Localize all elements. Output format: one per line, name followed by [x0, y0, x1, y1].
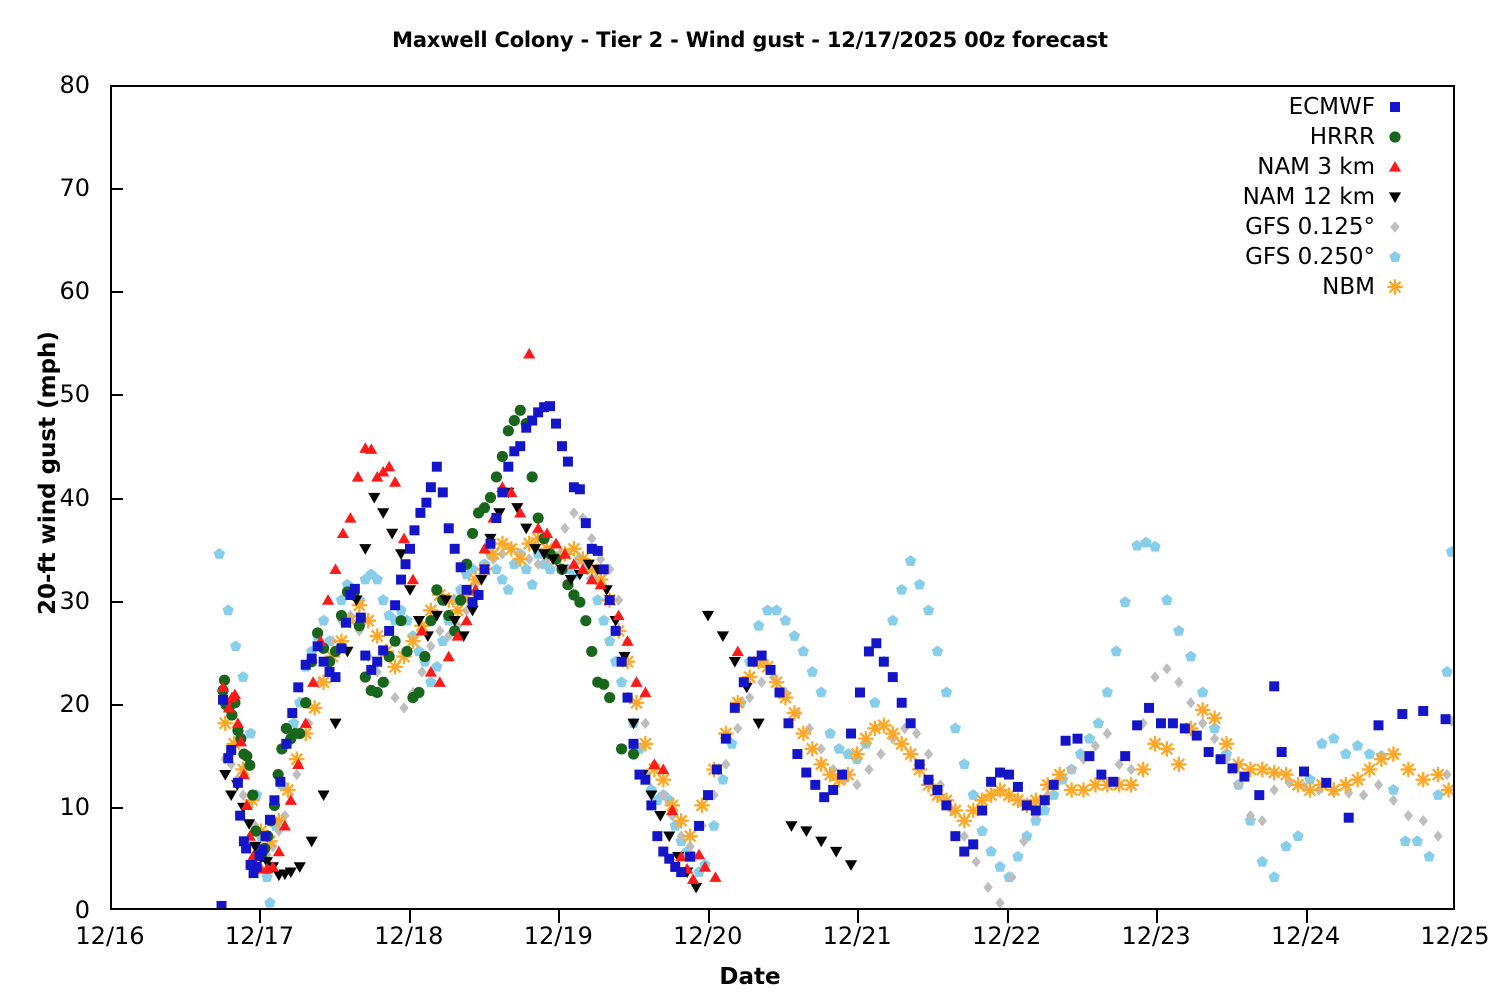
data-point: [407, 574, 419, 585]
x-tick-label: 12/20: [638, 922, 778, 950]
data-point: [480, 564, 490, 574]
data-point: [638, 736, 653, 751]
data-point: [732, 645, 744, 656]
data-point: [520, 524, 532, 535]
data-point: [491, 471, 502, 482]
data-point: [1004, 770, 1014, 780]
data-point: [1266, 765, 1281, 780]
data-point: [491, 563, 502, 574]
data-point: [646, 800, 656, 810]
x-tick-label: 12/22: [937, 922, 1077, 950]
data-point: [444, 523, 454, 533]
data-point: [1096, 770, 1106, 780]
data-point: [932, 645, 943, 656]
data-point: [1219, 736, 1234, 751]
data-point: [419, 651, 430, 662]
x-tick-mark: [708, 910, 710, 923]
x-tick-label: 12/18: [339, 922, 479, 950]
data-point: [815, 837, 827, 848]
series-nam-3-km: [217, 348, 744, 884]
data-point: [1258, 815, 1267, 826]
data-point: [599, 564, 609, 574]
data-point: [225, 790, 237, 801]
data-point: [503, 462, 513, 472]
data-point: [652, 831, 662, 841]
data-point: [1185, 651, 1196, 662]
data-point: [497, 487, 507, 497]
data-point: [598, 615, 609, 626]
data-point: [613, 610, 625, 621]
data-point: [745, 692, 754, 703]
data-point: [702, 611, 714, 622]
data-point: [356, 613, 366, 623]
data-point: [1255, 762, 1270, 777]
data-point: [1012, 851, 1023, 862]
data-point: [450, 544, 460, 554]
data-point: [845, 860, 857, 871]
data-point: [431, 584, 442, 595]
data-point: [307, 654, 317, 664]
data-point: [1419, 815, 1428, 826]
legend-item-nam-3-km[interactable]: NAM 3 km: [1150, 152, 1415, 182]
data-point: [616, 743, 627, 754]
data-point: [1197, 687, 1208, 698]
legend-item-nbm[interactable]: NBM: [1150, 272, 1415, 302]
data-point: [775, 688, 785, 698]
data-point: [396, 575, 406, 585]
data-point: [1350, 772, 1365, 787]
data-point: [398, 533, 410, 544]
data-point: [977, 806, 987, 816]
data-point: [1418, 706, 1428, 716]
data-point: [235, 811, 245, 821]
data-point: [390, 636, 401, 647]
x-tick-label: 12/16: [40, 922, 180, 950]
data-point: [421, 498, 431, 508]
legend-label: ECMWF: [1289, 94, 1375, 120]
data-point: [753, 719, 765, 730]
data-point: [941, 800, 951, 810]
data-point: [897, 698, 907, 708]
data-point: [771, 604, 782, 615]
data-point: [849, 746, 864, 761]
data-point: [378, 677, 389, 688]
data-point: [586, 646, 597, 657]
data-point: [378, 645, 388, 655]
data-point: [377, 508, 389, 519]
data-point: [415, 508, 425, 518]
data-point: [924, 748, 933, 759]
data-point: [317, 790, 329, 801]
data-point: [1257, 856, 1268, 867]
data-point: [485, 539, 495, 549]
data-point: [1359, 789, 1368, 800]
data-point: [1210, 733, 1219, 744]
legend-label: NBM: [1322, 274, 1375, 300]
data-point: [275, 777, 285, 787]
data-point: [876, 748, 885, 759]
data-point: [329, 563, 341, 574]
data-point: [801, 768, 811, 778]
data-point: [1084, 751, 1094, 761]
data-point: [1084, 733, 1095, 744]
data-point: [359, 544, 371, 555]
data-point: [1171, 757, 1186, 772]
data-point: [1013, 782, 1023, 792]
asterisk-marker-icon: [1375, 275, 1415, 299]
data-point: [1204, 747, 1214, 757]
data-point: [260, 831, 270, 841]
data-point: [1269, 681, 1279, 691]
data-point: [497, 451, 508, 462]
data-point: [1278, 767, 1293, 782]
data-point: [1103, 728, 1112, 739]
data-point: [574, 597, 585, 608]
data-point: [503, 425, 514, 436]
data-point: [959, 758, 970, 769]
data-point: [1132, 720, 1142, 730]
data-point: [1135, 762, 1150, 777]
data-point: [694, 821, 704, 831]
data-point: [1198, 718, 1207, 729]
data-point: [329, 719, 341, 730]
legend-item-gfs-0-125[interactable]: GFS 0.125°: [1150, 212, 1415, 242]
pentagon-marker-icon: [1375, 245, 1415, 269]
data-point: [426, 641, 435, 652]
data-point: [640, 775, 650, 785]
data-point: [405, 544, 415, 554]
y-tick-label: 40: [26, 484, 90, 512]
data-point: [1186, 697, 1195, 708]
data-point: [1123, 777, 1138, 792]
x-tick-mark: [1007, 910, 1009, 923]
x-tick-label: 12/19: [488, 922, 628, 950]
data-point: [985, 846, 996, 857]
data-point: [1344, 813, 1354, 823]
data-point: [1180, 723, 1190, 733]
data-point: [1150, 671, 1159, 682]
data-point: [1227, 763, 1237, 773]
page-title: Maxwell Colony - Tier 2 - Wind gust - 12…: [0, 28, 1500, 52]
data-point: [789, 630, 800, 641]
data-point: [1352, 740, 1363, 751]
data-point: [241, 844, 251, 854]
data-point: [399, 702, 408, 713]
data-point: [384, 626, 394, 636]
data-point: [805, 741, 820, 756]
data-point: [730, 703, 740, 713]
data-point: [521, 563, 532, 574]
data-point: [1173, 625, 1184, 636]
data-point: [438, 487, 448, 497]
data-point: [994, 861, 1005, 872]
data-point: [372, 657, 382, 667]
data-point: [413, 687, 424, 698]
data-point: [1386, 746, 1401, 761]
data-point: [739, 677, 749, 687]
data-point: [300, 697, 311, 708]
x-tick-mark: [1156, 910, 1158, 923]
data-point: [401, 646, 412, 657]
data-point: [390, 600, 400, 610]
data-point: [479, 502, 490, 513]
data-point: [1446, 546, 1453, 557]
x-axis-label: Date: [0, 964, 1500, 990]
data-point: [950, 831, 960, 841]
data-point: [896, 584, 907, 595]
data-point: [331, 672, 341, 682]
data-point: [757, 677, 766, 688]
data-point: [230, 640, 241, 651]
x-tick-label: 12/21: [787, 922, 927, 950]
data-point: [1040, 795, 1050, 805]
data-point: [960, 830, 969, 841]
data-point: [630, 676, 642, 687]
data-point: [1316, 738, 1327, 749]
data-point: [258, 845, 268, 855]
data-point: [617, 657, 627, 667]
data-point: [509, 415, 520, 426]
data-point: [401, 559, 411, 569]
data-point: [717, 631, 729, 642]
data-point: [1049, 780, 1059, 790]
data-point: [360, 651, 370, 661]
data-point: [409, 525, 419, 535]
data-point: [1254, 790, 1264, 800]
data-point: [217, 901, 227, 908]
data-point: [1022, 800, 1032, 810]
data-point: [551, 419, 561, 429]
x-tick-mark: [1306, 910, 1308, 923]
data-point: [676, 867, 686, 877]
data-point: [281, 739, 291, 749]
data-point: [1156, 718, 1166, 728]
chart-page: Maxwell Colony - Tier 2 - Wind gust - 12…: [0, 0, 1500, 1000]
data-point: [368, 493, 380, 504]
data-point: [846, 729, 856, 739]
data-point: [318, 615, 329, 626]
data-point: [233, 778, 243, 788]
data-point: [654, 811, 666, 822]
data-point: [656, 772, 671, 787]
data-point: [244, 760, 255, 771]
data-point: [1374, 720, 1384, 730]
data-point: [1162, 663, 1171, 674]
data-point: [560, 523, 569, 534]
data-point: [879, 657, 889, 667]
data-point: [598, 679, 609, 690]
data-point: [912, 728, 921, 739]
x-tick-mark: [259, 910, 261, 923]
data-point: [265, 815, 275, 825]
data-point: [269, 795, 279, 805]
data-point: [252, 862, 262, 872]
legend-item-ecmwf[interactable]: ECMWF: [1150, 92, 1415, 122]
x-tick-mark: [409, 910, 411, 923]
data-point: [455, 595, 466, 606]
data-point: [825, 728, 836, 739]
data-point: [581, 518, 591, 528]
data-point: [819, 792, 829, 802]
data-point: [1374, 779, 1383, 790]
chart-legend: ECMWFHRRRNAM 3 kmNAM 12 kmGFS 0.125°GFS …: [1150, 92, 1415, 302]
data-point: [1073, 734, 1083, 744]
data-point: [1400, 835, 1411, 846]
data-point: [1270, 784, 1279, 795]
data-point: [350, 584, 360, 594]
square-marker-icon: [1375, 95, 1415, 119]
data-point: [352, 471, 364, 482]
data-point: [1207, 710, 1222, 725]
data-point: [527, 471, 538, 482]
data-point: [247, 790, 258, 801]
legend-item-nam-12-km[interactable]: NAM 12 km: [1150, 182, 1415, 212]
data-point: [932, 785, 942, 795]
data-point: [1404, 810, 1413, 821]
data-point: [593, 546, 603, 556]
data-point: [673, 813, 688, 828]
data-point: [1174, 677, 1183, 688]
data-point: [785, 821, 797, 832]
data-point: [491, 513, 501, 523]
data-point: [796, 726, 811, 741]
series-nam-12-km: [219, 488, 857, 894]
data-point: [515, 405, 526, 416]
data-point: [432, 462, 442, 472]
data-point: [748, 657, 758, 667]
data-point: [497, 574, 508, 585]
data-point: [986, 777, 996, 787]
data-point: [1292, 830, 1303, 841]
data-point: [1299, 767, 1309, 777]
data-point: [1120, 751, 1130, 761]
data-point: [604, 692, 615, 703]
data-point: [628, 748, 639, 759]
data-point: [306, 837, 318, 848]
data-point: [639, 687, 651, 698]
data-point: [527, 579, 538, 590]
legend-item-hrrr[interactable]: HRRR: [1150, 122, 1415, 152]
data-point: [1364, 748, 1375, 759]
y-tick-label: 70: [26, 174, 90, 202]
data-point: [924, 775, 934, 785]
data-point: [800, 826, 812, 837]
data-point: [959, 847, 969, 857]
data-point: [462, 585, 472, 595]
data-point: [995, 768, 1005, 778]
y-tick-label: 80: [26, 71, 90, 99]
data-point: [1397, 709, 1407, 719]
data-point: [513, 551, 528, 566]
data-point: [721, 759, 730, 770]
triangle-down-marker-icon: [1375, 185, 1415, 209]
data-point: [435, 625, 444, 636]
data-point: [757, 651, 767, 661]
data-point: [218, 695, 228, 705]
data-point: [837, 770, 847, 780]
data-point: [1111, 645, 1122, 656]
data-point: [1159, 741, 1174, 756]
data-point: [1389, 795, 1398, 806]
data-point: [888, 672, 898, 682]
data-point: [1192, 731, 1202, 741]
data-point: [563, 457, 573, 467]
data-point: [575, 484, 585, 494]
data-point: [995, 897, 1004, 908]
data-point: [972, 856, 981, 867]
legend-label: NAM 3 km: [1257, 154, 1375, 180]
data-point: [341, 618, 351, 628]
data-point: [219, 770, 231, 781]
legend-label: NAM 12 km: [1243, 184, 1375, 210]
data-point: [1239, 772, 1249, 782]
data-point: [372, 687, 383, 698]
y-tick-label: 0: [26, 896, 90, 924]
data-point: [721, 734, 731, 744]
data-point: [1280, 840, 1291, 851]
data-point: [390, 692, 399, 703]
data-point: [905, 555, 916, 566]
data-point: [1321, 778, 1331, 788]
data-point: [292, 769, 301, 780]
data-point: [976, 825, 987, 836]
triangle-up-marker-icon: [1375, 155, 1415, 179]
data-point: [287, 708, 297, 718]
data-point: [467, 528, 478, 539]
data-point: [214, 548, 225, 559]
data-point: [623, 693, 633, 703]
data-point: [869, 697, 880, 708]
data-point: [336, 643, 346, 653]
data-point: [798, 645, 809, 656]
data-point: [1415, 772, 1430, 787]
data-point: [729, 657, 741, 668]
data-point: [616, 676, 627, 687]
data-point: [344, 512, 356, 523]
data-point: [792, 749, 802, 759]
data-point: [369, 628, 384, 643]
data-point: [852, 779, 861, 790]
data-point: [968, 839, 978, 849]
legend-label: GFS 0.125°: [1245, 214, 1375, 240]
x-tick-label: 12/25: [1385, 922, 1500, 950]
data-point: [629, 739, 639, 749]
data-point: [983, 882, 992, 893]
data-point: [404, 585, 416, 596]
legend-item-gfs-0-250[interactable]: GFS 0.250°: [1150, 242, 1415, 272]
data-point: [914, 579, 925, 590]
data-point: [611, 626, 621, 636]
circle-marker-icon: [1375, 125, 1415, 149]
x-tick-label: 12/17: [189, 922, 329, 950]
data-point: [580, 615, 591, 626]
data-point: [1168, 718, 1178, 728]
data-point: [1161, 594, 1172, 605]
data-point: [766, 665, 776, 675]
data-point: [690, 883, 702, 894]
data-point: [641, 718, 650, 729]
y-tick-label: 50: [26, 380, 90, 408]
data-point: [503, 584, 514, 595]
data-point: [950, 722, 961, 733]
data-point: [703, 790, 713, 800]
data-point: [871, 638, 881, 648]
y-tick-label: 60: [26, 277, 90, 305]
data-point: [807, 666, 818, 677]
data-point: [1328, 733, 1339, 744]
data-point: [923, 604, 934, 615]
diamond-marker-icon: [1375, 215, 1415, 239]
